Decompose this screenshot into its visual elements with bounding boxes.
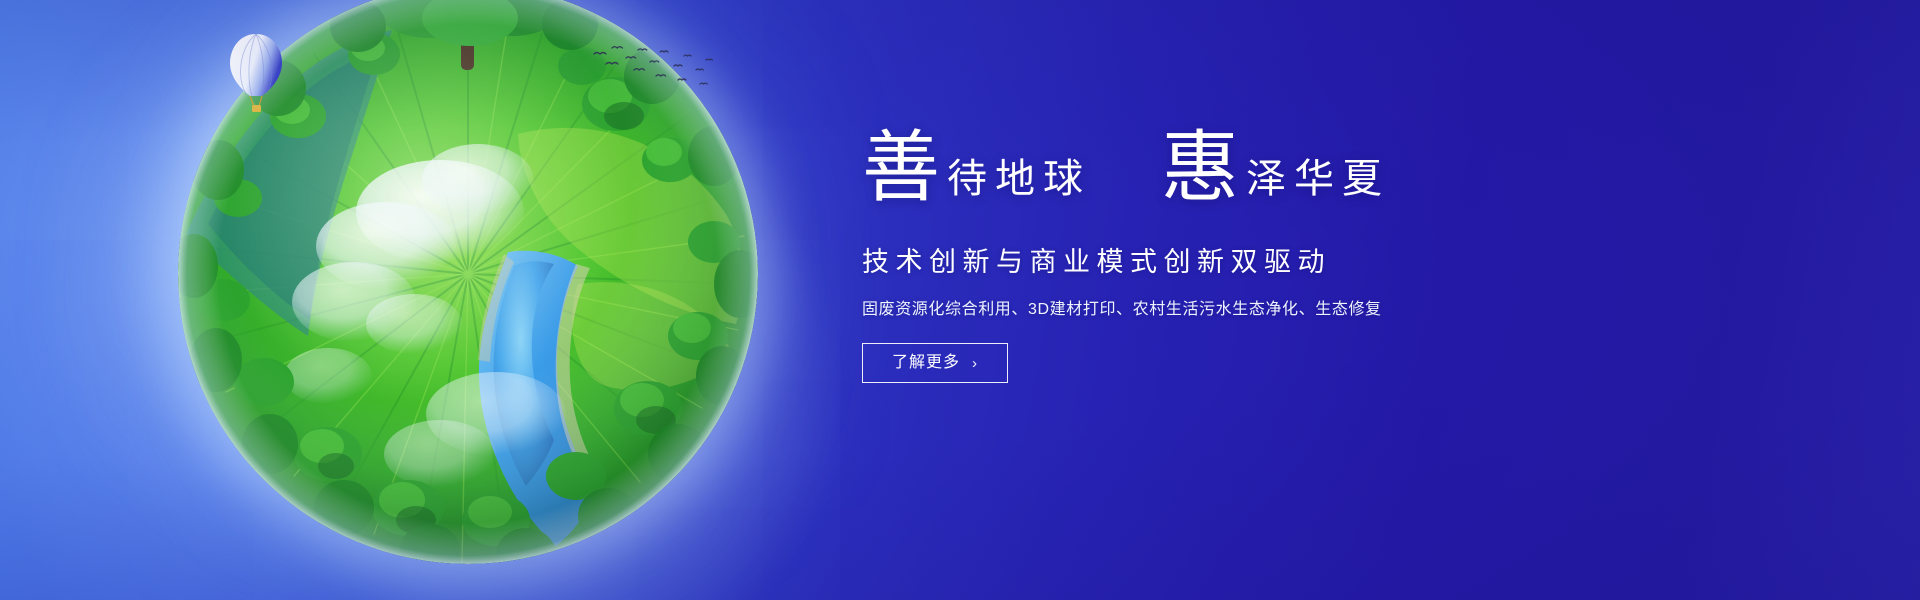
headline-char-large-2: 惠 <box>1161 132 1240 204</box>
hero-description: 固废资源化综合利用、3D建材打印、农村生活污水生态净化、生态修复 <box>862 295 1682 319</box>
headline-phrase-2: 惠泽华夏 <box>1161 132 1390 204</box>
headline-char-large-1: 善 <box>862 132 941 204</box>
hero-banner: 善待地球 惠泽华夏 技术创新与商业模式创新双驱动 固废资源化综合利用、3D建材打… <box>0 0 1920 600</box>
hero-subheadline: 技术创新与商业模式创新双驱动 <box>862 240 1682 279</box>
chevron-right-icon: › <box>972 356 978 371</box>
hero-copy: 善待地球 惠泽华夏 技术创新与商业模式创新双驱动 固废资源化综合利用、3D建材打… <box>862 132 1682 383</box>
headline-chars-small-1: 待地球 <box>941 159 1091 204</box>
headline-phrase-1: 善待地球 <box>862 132 1091 204</box>
hot-air-balloon-icon <box>228 30 284 114</box>
headline-chars-small-2: 泽华夏 <box>1240 159 1390 204</box>
learn-more-label: 了解更多 <box>892 355 960 371</box>
hero-headline: 善待地球 惠泽华夏 <box>862 132 1682 218</box>
learn-more-button[interactable]: 了解更多 › <box>862 343 1008 383</box>
birds-flock-icon <box>590 44 720 92</box>
